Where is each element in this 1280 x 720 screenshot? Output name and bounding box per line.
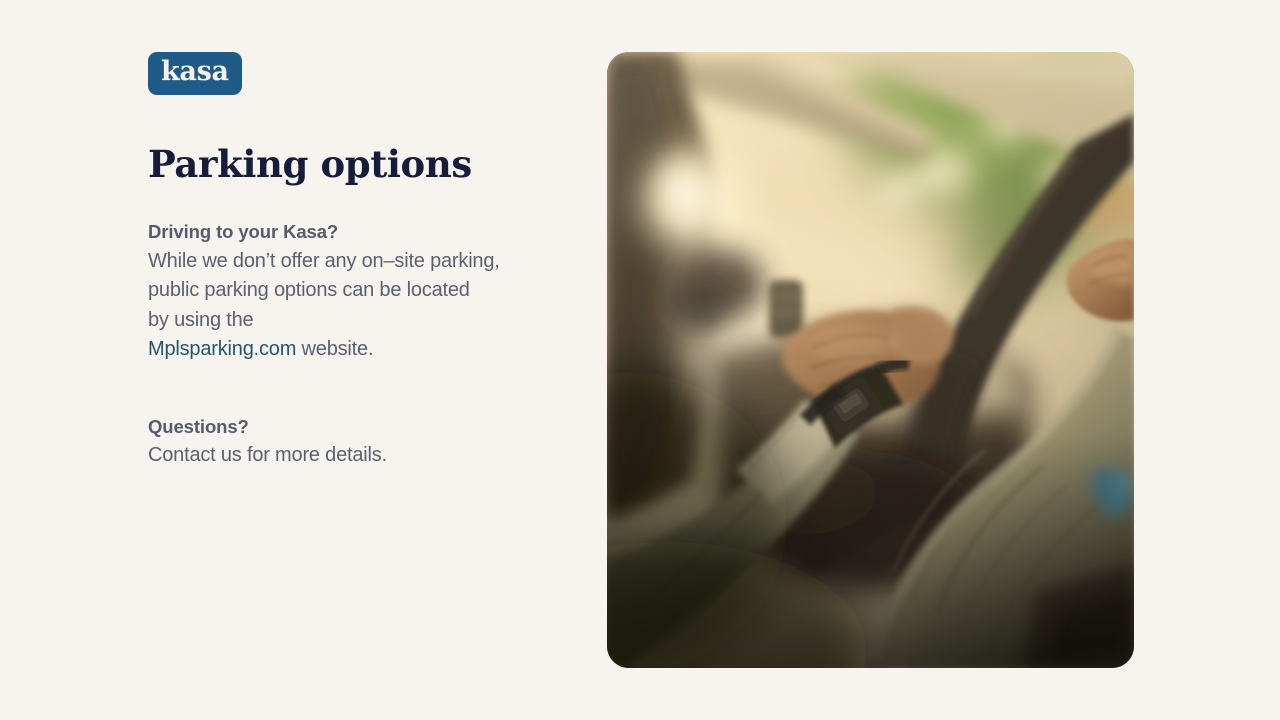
slide-root: kasa Parking options Driving to your Kas… (0, 0, 1280, 720)
section-driving-body: While we don’t offer any on–site parking… (148, 247, 578, 365)
kasa-logo-text: kasa (161, 57, 229, 87)
body-line: Contact us for more details. (148, 441, 578, 471)
section-questions-heading: Questions? (148, 412, 578, 442)
page-title: Parking options (148, 143, 578, 185)
section-driving-heading: Driving to your Kasa? (148, 217, 578, 247)
body-line-with-link: Mplsparking.com website. (148, 335, 578, 365)
section-driving: Driving to your Kasa? While we don’t off… (148, 217, 578, 365)
section-questions-body: Contact us for more details. (148, 441, 578, 471)
mplsparking-link[interactable]: Mplsparking.com (148, 338, 296, 360)
link-trailing-text: website. (296, 338, 373, 360)
body-line: by using the (148, 306, 578, 336)
content-column: kasa Parking options Driving to your Kas… (148, 52, 578, 471)
body-line: public parking options can be located (148, 276, 578, 306)
driving-photo (607, 52, 1134, 668)
driving-photo-illustration (607, 52, 1134, 668)
body-line: While we don’t offer any on–site parking… (148, 247, 578, 277)
kasa-logo[interactable]: kasa (148, 52, 242, 95)
section-questions: Questions? Contact us for more details. (148, 412, 578, 471)
